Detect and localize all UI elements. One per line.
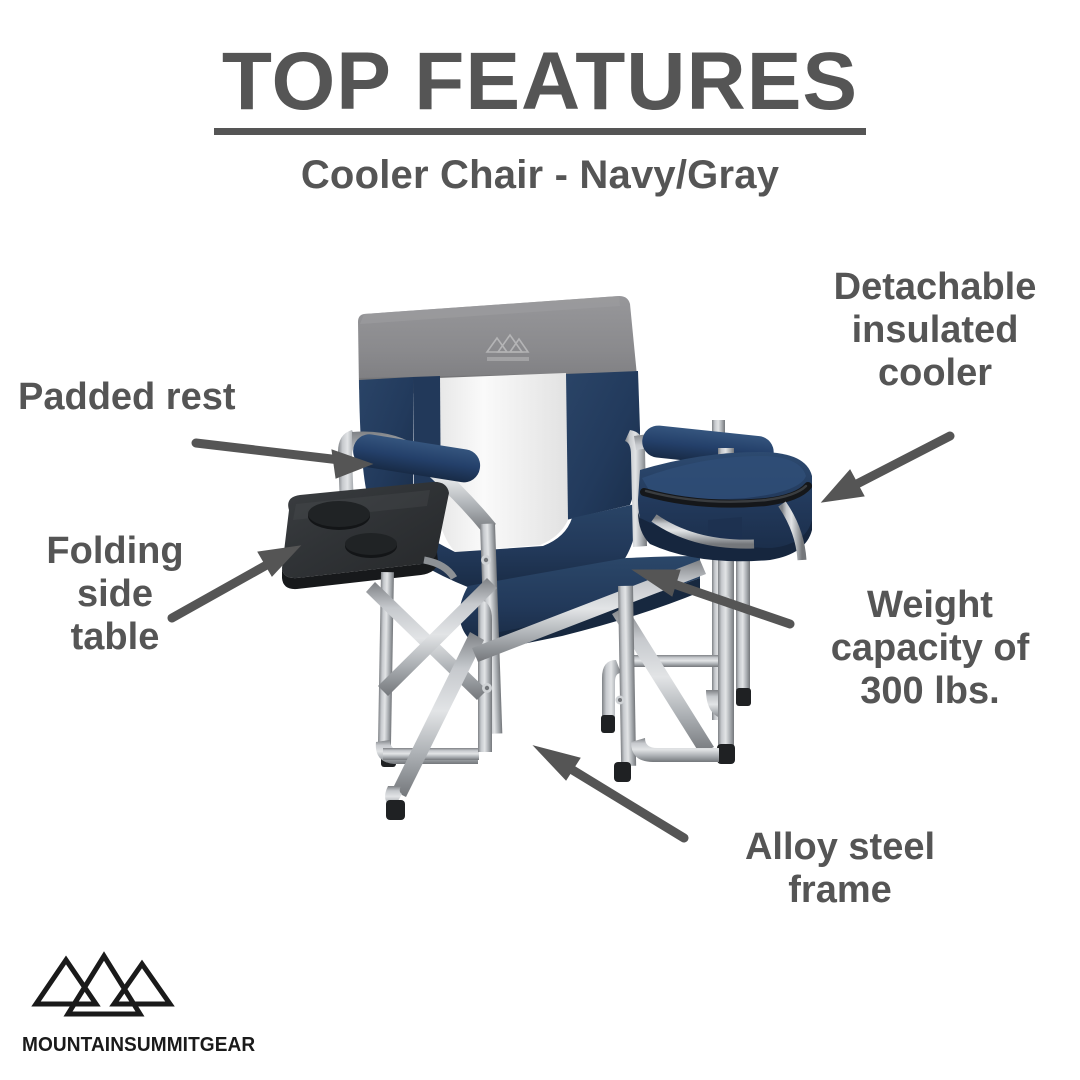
- callout-folding-side-table: Folding side table: [10, 530, 220, 659]
- callout-alloy-steel-frame: Alloy steel frame: [700, 826, 980, 912]
- brand-name: MOUNTAINSUMMITGEAR: [22, 1033, 213, 1057]
- callout-detachable-insulated-cooler: Detachable insulated cooler: [800, 266, 1070, 395]
- infographic-page: TOP FEATURES Cooler Chair - Navy/Gray: [0, 0, 1080, 1080]
- arrow-weight: [633, 570, 790, 624]
- callout-padded-rest: Padded rest: [18, 376, 318, 419]
- callout-weight-capacity: Weight capacity of 300 lbs.: [790, 584, 1070, 713]
- brand-logo: MOUNTAINSUMMITGEAR: [22, 942, 227, 1057]
- three-mountain-peaks-icon: [22, 942, 202, 1024]
- arrow-padded-rest: [196, 443, 372, 478]
- arrow-cooler: [822, 436, 950, 502]
- arrow-frame: [534, 746, 684, 838]
